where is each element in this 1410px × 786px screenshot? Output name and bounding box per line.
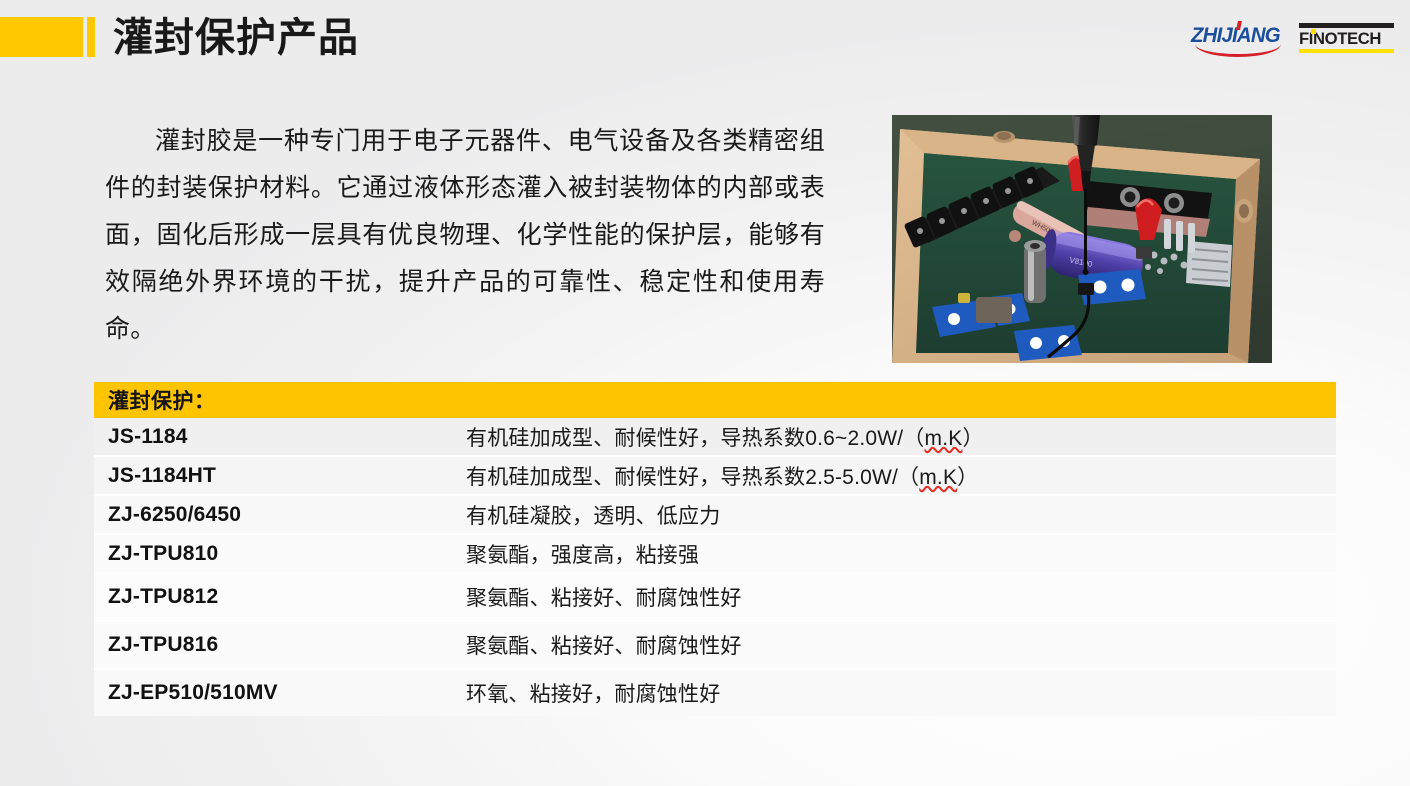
product-description: 有机硅加成型、耐候性好，导热系数0.6~2.0W/（m.K）	[466, 422, 1336, 452]
product-description: 有机硅凝胶，透明、低应力	[466, 500, 1336, 530]
table-row[interactable]: ZJ-TPU810 聚氨酯，强度高，粘接强	[94, 535, 1336, 574]
product-description: 环氧、粘接好，耐腐蚀性好	[466, 678, 1336, 708]
table-header-label: 灌封保护：	[108, 385, 216, 415]
finotech-bottom-bar-icon	[1299, 49, 1394, 53]
header-accent-bar-thin	[87, 17, 95, 57]
logo-group: ZHIJIANG FINOTECH	[1191, 22, 1394, 56]
product-code: ZJ-TPU812	[108, 585, 466, 609]
zhijiang-swoosh-icon	[1195, 44, 1281, 57]
page-header: 灌封保护产品 ZHIJIANG FINOTECH	[0, 0, 1410, 84]
product-code: ZJ-TPU810	[108, 542, 466, 566]
spellcheck-text: m.K	[925, 427, 963, 450]
product-code: JS-1184HT	[108, 464, 466, 488]
photo-illustration: WH50 V8100	[892, 115, 1272, 363]
potting-process-photo: WH50 V8100	[892, 115, 1272, 363]
header-accent-bar-wide	[0, 17, 83, 57]
product-code: ZJ-TPU816	[108, 633, 466, 657]
spellcheck-text: m.K	[919, 466, 957, 489]
product-description: 聚氨酯、粘接好、耐腐蚀性好	[466, 582, 1336, 612]
finotech-dot-icon	[1311, 29, 1316, 34]
product-code: ZJ-6250/6450	[108, 503, 466, 527]
table-row[interactable]: JS-1184HT 有机硅加成型、耐候性好，导热系数2.5-5.0W/（m.K）	[94, 457, 1336, 496]
zhijiang-logo: ZHIJIANG	[1191, 22, 1283, 56]
product-description: 聚氨酯、粘接好、耐腐蚀性好	[466, 630, 1336, 660]
product-description: 聚氨酯，强度高，粘接强	[466, 539, 1336, 569]
finotech-logo: FINOTECH	[1299, 22, 1394, 56]
finotech-top-bar-icon	[1299, 23, 1394, 28]
table-row[interactable]: ZJ-EP510/510MV 环氧、粘接好，耐腐蚀性好	[94, 670, 1336, 716]
product-code: ZJ-EP510/510MV	[108, 681, 466, 705]
table-row[interactable]: ZJ-6250/6450 有机硅凝胶，透明、低应力	[94, 496, 1336, 535]
product-description: 有机硅加成型、耐候性好，导热系数2.5-5.0W/（m.K）	[466, 461, 1336, 491]
table-header: 灌封保护：	[94, 382, 1336, 418]
intro-paragraph: 灌封胶是一种专门用于电子元器件、电气设备及各类精密组件的封装保护材料。它通过液体…	[105, 118, 825, 353]
table-row[interactable]: ZJ-TPU816 聚氨酯、粘接好、耐腐蚀性好	[94, 622, 1336, 670]
product-code: JS-1184	[108, 425, 466, 449]
table-row[interactable]: JS-1184 有机硅加成型、耐候性好，导热系数0.6~2.0W/（m.K）	[94, 418, 1336, 457]
page-title: 灌封保护产品	[113, 12, 359, 64]
table-row[interactable]: ZJ-TPU812 聚氨酯、粘接好、耐腐蚀性好	[94, 574, 1336, 622]
product-table: 灌封保护： JS-1184 有机硅加成型、耐候性好，导热系数0.6~2.0W/（…	[94, 382, 1336, 716]
